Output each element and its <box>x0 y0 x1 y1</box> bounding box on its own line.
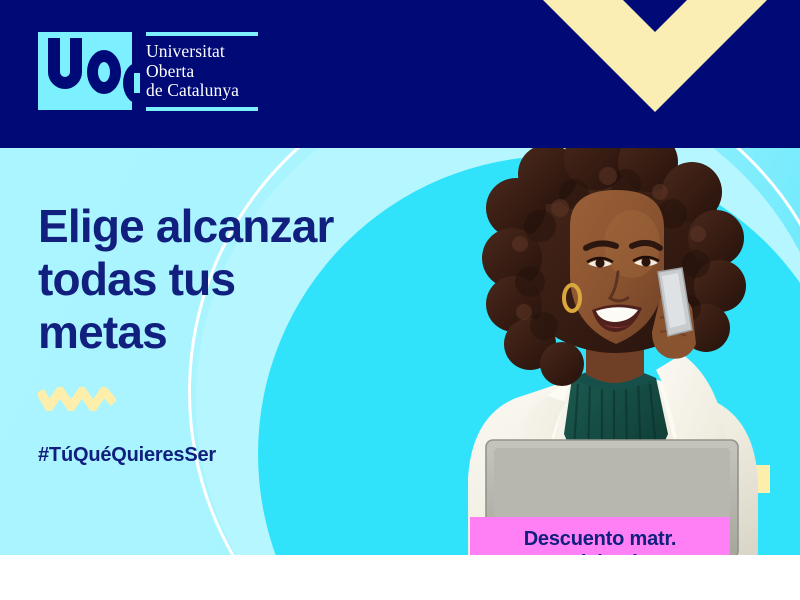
uoc-logo-mark <box>38 32 132 110</box>
chevron-down-icon <box>505 0 800 148</box>
uoc-logo[interactable]: Universitat Oberta de Catalunya <box>38 32 258 111</box>
footer-white-strip <box>0 555 800 600</box>
uoc-promo-banner: Universitat Oberta de Catalunya Elige al… <box>0 0 800 600</box>
banner-header: Universitat Oberta de Catalunya <box>0 0 800 148</box>
uoc-logo-wordmark: Universitat Oberta de Catalunya <box>146 32 258 111</box>
promo-copy-block: Elige alcanzar todas tus metas #TúQuéQui… <box>38 200 398 467</box>
university-name: Universitat Oberta de Catalunya <box>146 36 258 107</box>
campaign-hashtag[interactable]: #TúQuéQuieresSer <box>38 444 398 467</box>
zigzag-decoration-icon <box>38 387 116 411</box>
subject-photo <box>420 148 800 562</box>
logo-rule-bottom <box>146 107 258 111</box>
page-title: Elige alcanzar todas tus metas <box>38 200 398 359</box>
